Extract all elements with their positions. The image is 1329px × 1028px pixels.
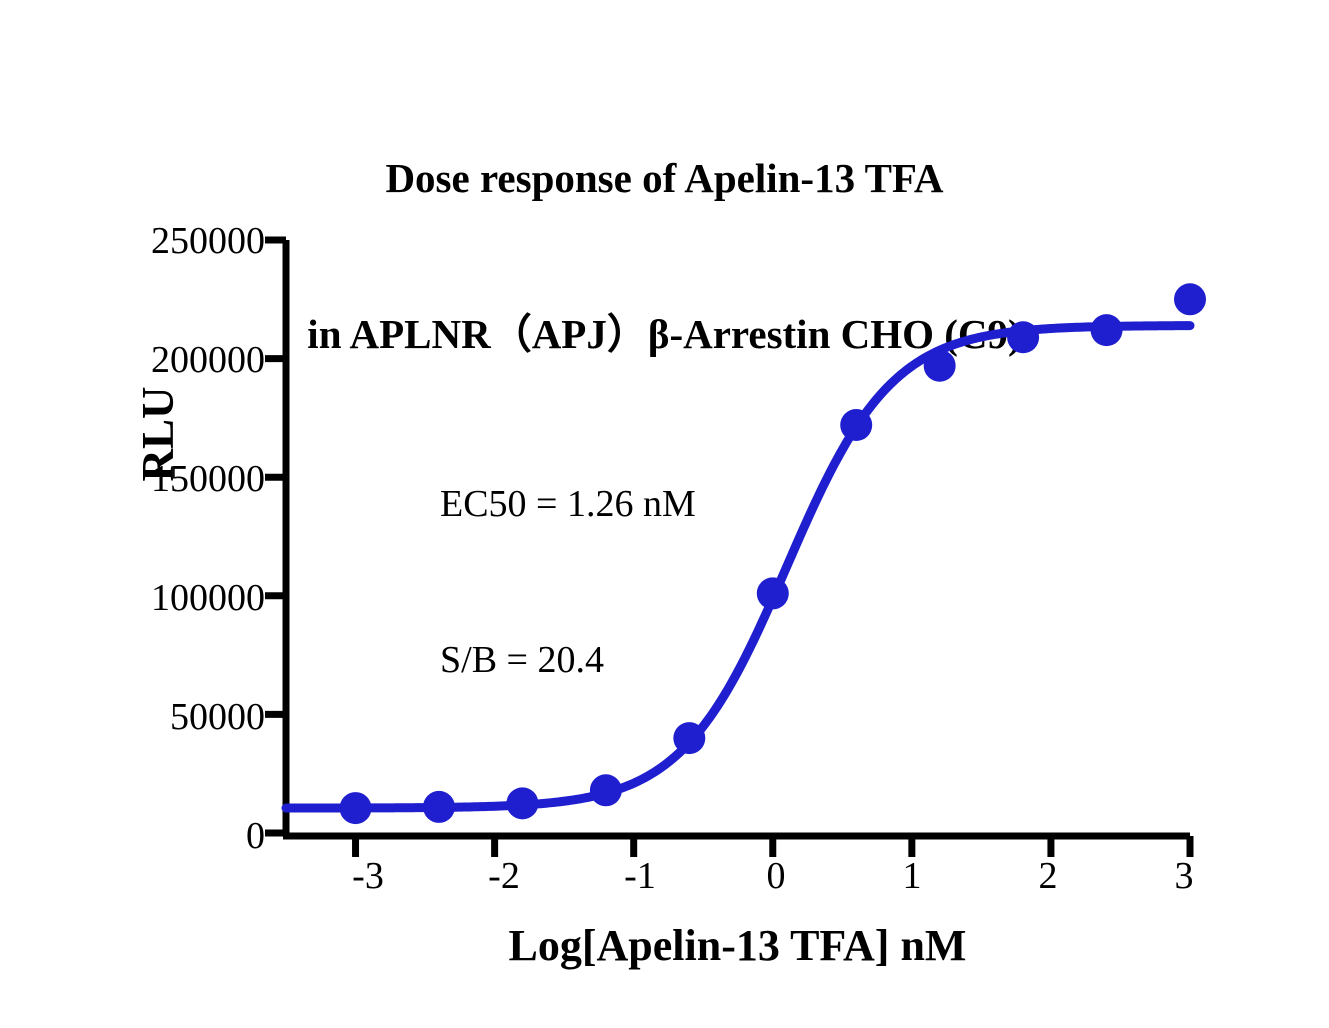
data-point-marker [590, 774, 622, 806]
data-point-markers [340, 283, 1206, 824]
data-point-marker [1174, 283, 1206, 315]
data-point-marker [1007, 321, 1039, 353]
data-point-marker [1091, 314, 1123, 346]
data-point-marker [840, 409, 872, 441]
data-point-marker [924, 350, 956, 382]
plot-area [0, 0, 1329, 1028]
data-point-marker [506, 787, 538, 819]
data-point-marker [757, 577, 789, 609]
dose-response-fit-curve [286, 326, 1190, 808]
data-point-marker [673, 722, 705, 754]
data-point-marker [340, 792, 372, 824]
data-point-marker [423, 791, 455, 823]
chart-figure: Dose response of Apelin-13 TFA in APLNR（… [0, 0, 1329, 1028]
